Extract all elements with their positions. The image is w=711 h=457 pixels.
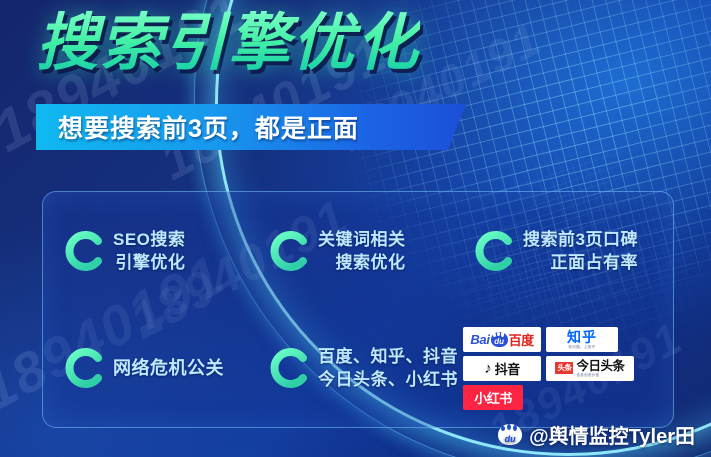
attribution-du-text: du (498, 435, 522, 444)
subtitle-text: 想要搜索前3页，都是正面 (58, 109, 359, 145)
feature-item-channels: 百度、知乎、抖音 今日头条、小红书 (248, 310, 453, 428)
feature-line-1: SEO搜索 (113, 230, 185, 249)
c-ring-icon (268, 229, 312, 273)
feature-line-1: 关键词相关 (318, 230, 406, 249)
c-ring-icon (268, 346, 312, 390)
feature-item-pr: 网络危机公关 (43, 310, 248, 428)
logo-xiaohongshu: 小红书 (463, 385, 523, 410)
toutiao-text-wrap: 今日头条 信息创造价值 (576, 359, 624, 377)
feature-card: SEO搜索 引擎优化 关键词相关 搜索优化 (42, 191, 674, 428)
xiaohongshu-main-text: 小红书 (474, 388, 512, 407)
logo-douyin: ♪ 抖音 (463, 356, 541, 381)
douyin-main-text: 抖音 (495, 359, 520, 378)
page-title: 搜索引擎优化 (36, 8, 420, 80)
feature-label: 网络危机公关 (113, 357, 224, 380)
logo-list: Bai du 百度 知乎 有问题，上知乎 ♪ 抖音 (463, 327, 634, 410)
toutiao-sub-text: 信息创造价值 (576, 373, 599, 377)
logo-zhihu: 知乎 有问题，上知乎 (546, 327, 618, 352)
feature-line-1: 百度、知乎、抖音 (318, 347, 458, 366)
zhihu-main-text: 知乎 (567, 330, 597, 345)
subtitle-banner: 想要搜索前3页，都是正面 (36, 104, 466, 150)
feature-line-2: 引擎优化 (113, 251, 185, 274)
feature-item-seo: SEO搜索 引擎优化 (43, 192, 248, 310)
c-ring-icon (473, 229, 517, 273)
poster-root: 18940191 18940191 18940191 18940191 1894… (0, 0, 711, 457)
toutiao-badge: 头条 (555, 362, 573, 374)
music-note-icon: ♪ (484, 361, 492, 376)
feature-item-keyword: 关键词相关 搜索优化 (248, 192, 453, 310)
feature-label: 关键词相关 搜索优化 (318, 228, 406, 274)
feature-label: SEO搜索 引擎优化 (113, 228, 185, 274)
zhihu-sub-text: 有问题，上知乎 (568, 345, 595, 349)
feature-label: 百度、知乎、抖音 今日头条、小红书 (318, 345, 458, 391)
baidu-cn-text: 百度 (509, 330, 534, 349)
baidu-paw-icon: du (491, 332, 508, 347)
feature-line-2: 搜索优化 (318, 251, 406, 274)
toutiao-main-text: 今日头条 (576, 359, 624, 373)
logo-baidu: Bai du 百度 (463, 327, 541, 352)
feature-label: 搜索前3页口碑 正面占有率 (523, 228, 638, 274)
baidu-du-text: du (491, 338, 508, 346)
logo-toutiao: 头条 今日头条 信息创造价值 (546, 356, 634, 381)
feature-grid: SEO搜索 引擎优化 关键词相关 搜索优化 (43, 192, 673, 427)
feature-line-1: 搜索前3页口碑 (523, 230, 638, 249)
feature-item-top3: 搜索前3页口碑 正面占有率 (453, 192, 673, 310)
baidu-paw-icon: du (498, 424, 522, 445)
platform-logo-grid: Bai du 百度 知乎 有问题，上知乎 ♪ 抖音 (453, 310, 673, 428)
c-ring-icon (63, 346, 107, 390)
c-ring-icon (63, 229, 107, 273)
feature-line-2: 正面占有率 (523, 251, 638, 274)
baidu-bai-text: Bai (470, 332, 489, 347)
attribution: du @舆情监控Tyler田 (498, 420, 695, 449)
attribution-handle: @舆情监控Tyler田 (529, 420, 695, 449)
feature-line-2: 今日头条、小红书 (318, 368, 458, 391)
